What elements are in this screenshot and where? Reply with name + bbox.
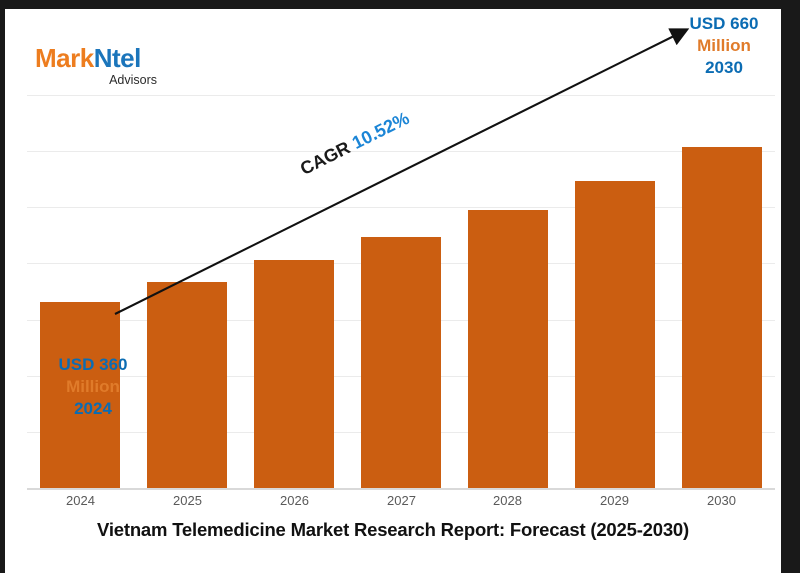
bar — [575, 181, 655, 488]
logo-wordmark-part1: Mark — [35, 43, 94, 73]
x-axis-tick-label: 2024 — [27, 493, 134, 508]
bar — [361, 237, 441, 488]
bar — [254, 260, 334, 488]
bar — [468, 210, 548, 488]
end-callout-unit: Million — [668, 35, 780, 57]
x-axis-tick-label: 2027 — [348, 493, 455, 508]
chart-screenshot: MarkNtel Advisors 2024202520262027202820… — [0, 0, 800, 573]
x-axis-tick-label: 2030 — [668, 493, 775, 508]
gridline — [27, 207, 775, 208]
start-callout-unit: Million — [38, 376, 148, 398]
chart-canvas: MarkNtel Advisors 2024202520262027202820… — [5, 9, 781, 573]
start-value-callout: USD 360 Million 2024 — [38, 354, 148, 419]
logo-wordmark: MarkNtel — [35, 45, 185, 71]
brand-logo: MarkNtel Advisors — [35, 45, 185, 87]
bar — [147, 282, 227, 488]
gridline — [27, 151, 775, 152]
frame-border-top — [0, 0, 800, 9]
x-axis-tick-label: 2028 — [454, 493, 561, 508]
frame-border-right — [781, 0, 800, 573]
plot-area — [27, 95, 775, 488]
x-axis-tick-label: 2029 — [561, 493, 668, 508]
chart-title: Vietnam Telemedicine Market Research Rep… — [5, 519, 781, 541]
end-value-callout: USD 660 Million 2030 — [668, 13, 780, 78]
x-axis-tick-label: 2026 — [241, 493, 348, 508]
logo-wordmark-part2: Ntel — [94, 43, 141, 73]
start-callout-amount: USD 360 — [38, 354, 148, 376]
logo-tagline: Advisors — [35, 73, 157, 87]
x-axis-tick-label: 2025 — [134, 493, 241, 508]
x-axis-line — [27, 488, 775, 490]
x-axis-tick-labels: 2024202520262027202820292030 — [27, 493, 775, 517]
end-callout-year: 2030 — [668, 57, 780, 79]
gridline — [27, 95, 775, 96]
start-callout-year: 2024 — [38, 398, 148, 420]
bar — [682, 147, 762, 488]
end-callout-amount: USD 660 — [668, 13, 780, 35]
